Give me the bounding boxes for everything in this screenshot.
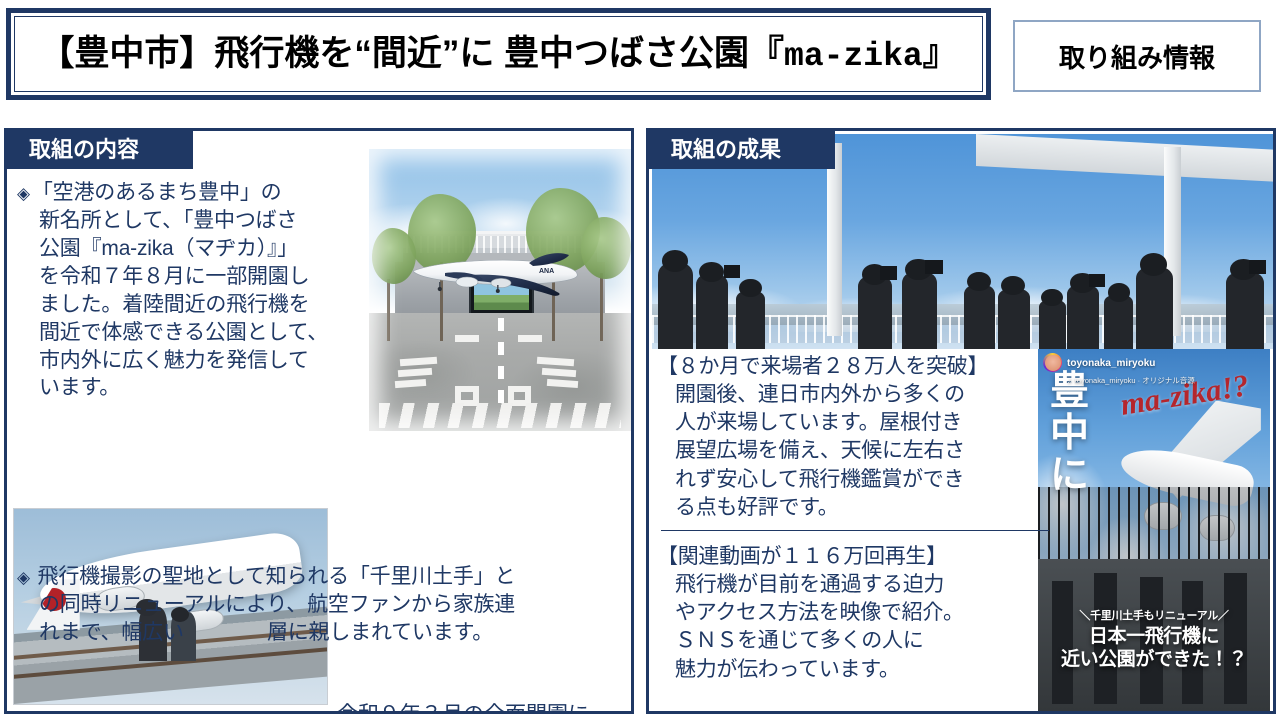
bullet1-line-5: 間近で体感できる公園として、 [17,319,389,347]
bullet1-line-1: 新名所として、「豊中つばさ [17,207,389,235]
panel-initiative-content: 取組の内容 [4,128,634,714]
instagram-username: toyonaka_miryoku [1067,358,1155,369]
reel-caption-line-1: 日本一飛行機に [1038,625,1270,648]
bullet2-line-0: 飛行機撮影の聖地として知られる「千里川土手」と [38,565,516,588]
bullet2-line-2: れまで、幅広い 層に親しまれています。 [17,619,629,647]
instagram-audio-label: ♫ toyonaka_miryoku · オリジナル音源 [1067,376,1195,385]
result2-line-3: ＳＮＳを通じて多くの人に [657,627,1057,655]
initiative-bullet-1: ◈「空港のあるまち豊中」の 新名所として、「豊中つばさ 公園『ma-zika（マ… [17,179,389,402]
bullet1-line-3: を令和７年８月に一部開園し [17,263,389,291]
result2-line-4: 魅力が伝わっています。 [657,656,1057,684]
bullet1-line-4: ました。着陸間近の飛行機を [17,291,389,319]
result-block-visitors: 【８か月で来場者２８万人を突破】 開園後、連日市内外から多くの 人が来場していま… [657,353,1057,522]
result-divider [661,530,1049,531]
bullet1-line-7: います。 [17,374,389,402]
bullet1-line-2: 公園『ma-zika（マヂカ）』」 [17,235,389,263]
info-badge: 取り組み情報 [1013,20,1261,92]
title-main-text: 【豊中市】飛行機を“間近”に 豊中つばさ公園『 [39,34,784,73]
panel-initiative-results: 取組の成果 [646,128,1276,714]
info-badge-label: 取り組み情報 [1059,38,1215,75]
reel-caption: ＼千里川土手もリニューアル／ 日本一飛行機に 近い公園ができた！？ [1038,607,1270,671]
result2-line-2: やアクセス方法を映像で紹介。 [657,599,1057,627]
instagram-account-header: toyonaka_miryoku ♫ toyonaka_miryoku · オリ… [1043,353,1270,388]
result2-line-0: 【関連動画が１１６万回再生】 [657,543,1057,571]
result1-line-3: 展望広場を備え、天候に左右さ [657,437,1057,465]
ana-aircraft-image: ANA [409,249,583,311]
title-tail-text: 』 [923,34,958,73]
bullet1-line-6: 市内外に広く魅力を発信して [17,347,389,375]
reel-caption-line-2: 近い公園ができた！？ [1038,648,1270,671]
slide-header: 【豊中市】飛行機を“間近”に 豊中つばさ公園『ma-zika』 取り組み情報 [6,8,1274,106]
bullet2-line-1: の同時リニューアルにより、航空ファンから家族連 [17,591,629,619]
bullet-marker-icon: ◈ [17,184,30,203]
result1-line-1: 開園後、連日市内外から多くの [657,381,1057,409]
result1-line-0: 【８か月で来場者２８万人を突破】 [657,353,1057,381]
result-block-video-views: 【関連動画が１１６万回再生】 飛行機が目前を通過する迫力 やアクセス方法を映像で… [657,543,1057,684]
closing-line-0: 令和９年３月の全面開園に [337,701,634,714]
panel-right-header: 取組の成果 [649,131,835,169]
slide-title-box: 【豊中市】飛行機を“間近”に 豊中つばさ公園『ma-zika』 [6,8,991,100]
instagram-reel-screenshot: toyonaka_miryoku ♫ toyonaka_miryoku · オリ… [1038,349,1270,711]
result1-line-2: 人が来場しています。屋根付き [657,409,1057,437]
page-title: 【豊中市】飛行機を“間近”に 豊中つばさ公園『ma-zika』 [39,36,957,73]
title-mono-text: ma-zika [784,38,923,75]
result2-line-1: 飛行機が目前を通過する迫力 [657,571,1057,599]
bullet1-line-0: 「空港のあるまち豊中」の [32,181,282,204]
closing-note: 令和９年３月の全面開園に 向けて、さらなる魅力向上 を図ります。 [337,701,634,714]
result1-line-5: る点も好評です。 [657,494,1057,522]
initiative-bullet-2: ◈ 飛行機撮影の聖地として知られる「千里川土手」と の同時リニューアルにより、航… [17,563,629,647]
reel-caption-small: ＼千里川土手もリニューアル／ [1038,607,1270,623]
bullet-marker-icon: ◈ [17,568,30,587]
panel-left-header: 取組の内容 [7,131,193,169]
result1-line-4: れず安心して飛行機鑑賞ができ [657,466,1057,494]
svg-text:ANA: ANA [539,268,554,275]
